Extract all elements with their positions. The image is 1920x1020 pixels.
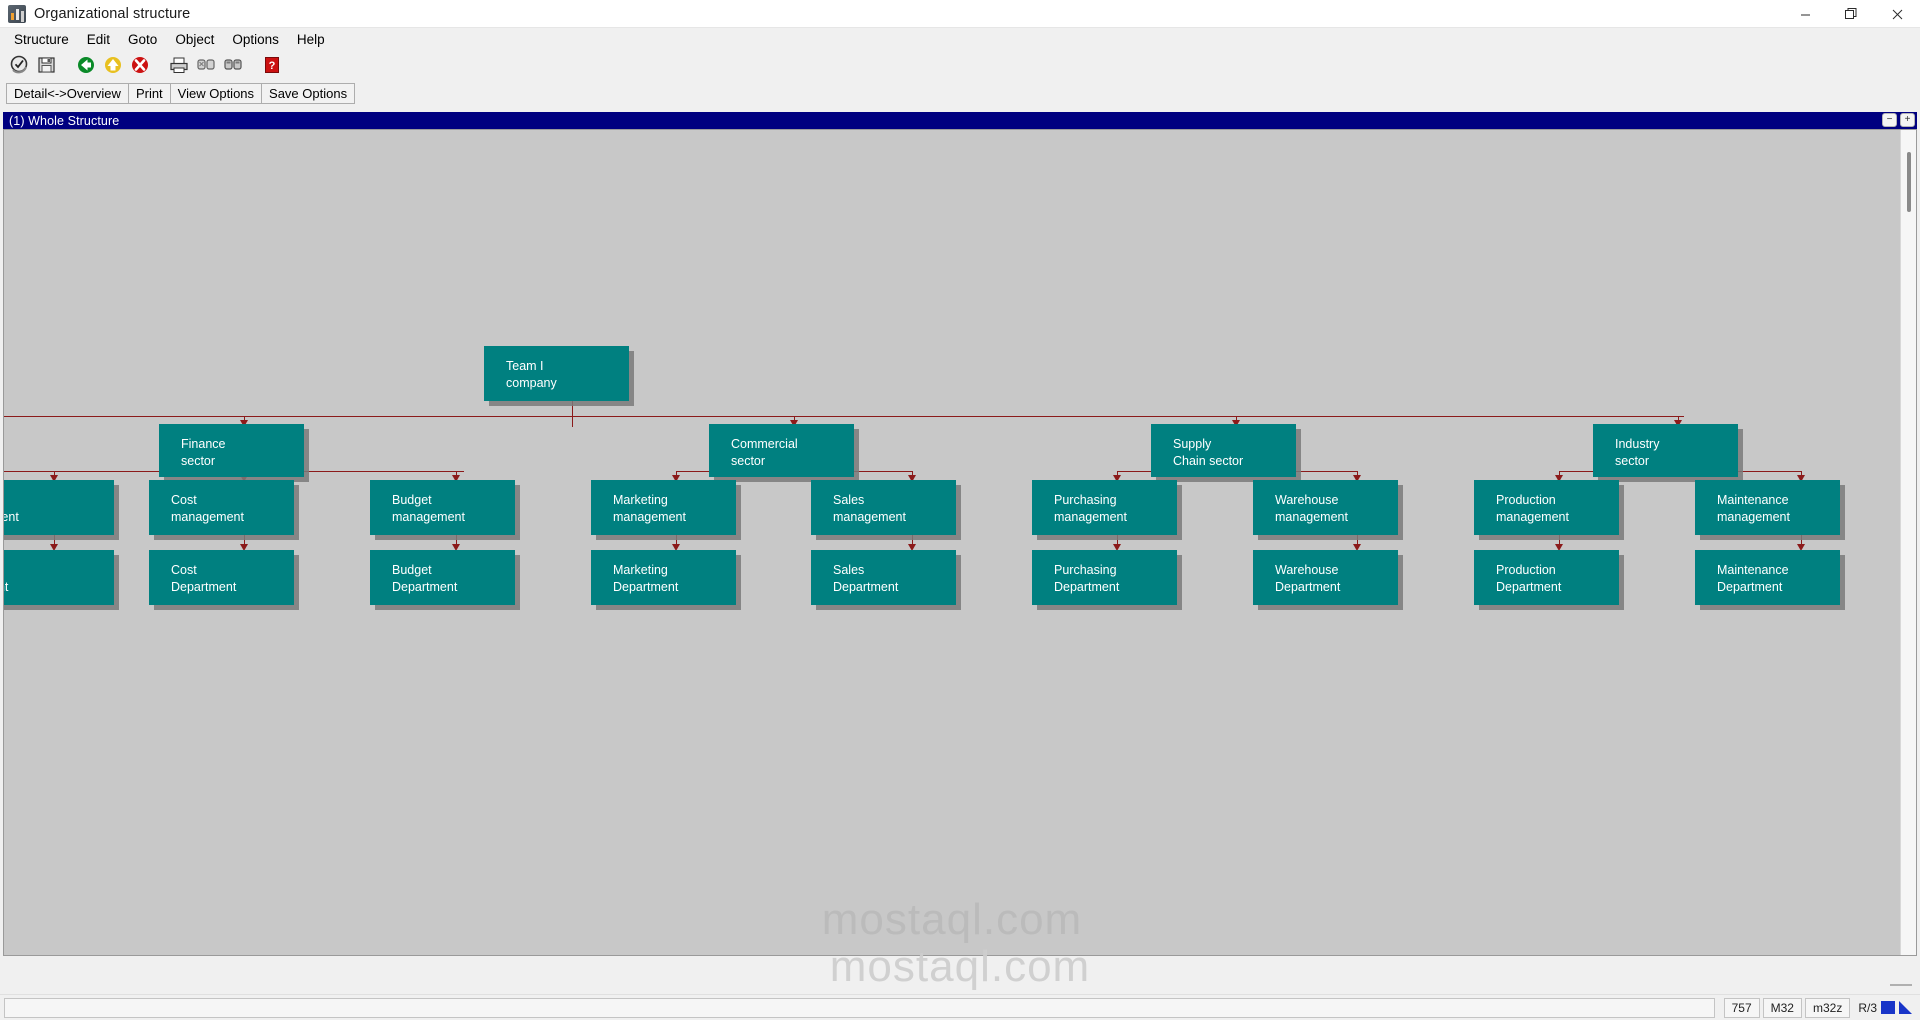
org-node-warehouse-department[interactable]: Warehouse Department [1253, 550, 1398, 605]
print-icon[interactable] [167, 54, 191, 77]
mdi-title-text: (1) Whole Structure [9, 114, 119, 128]
save-options-button[interactable]: Save Options [261, 83, 355, 104]
vertical-scrollbar-thumb[interactable] [1907, 152, 1911, 212]
org-node-purchasing-department[interactable]: Purchasing Department [1032, 550, 1177, 605]
org-node-budget-department[interactable]: Budget Department [370, 550, 515, 605]
node-line1: Maintenance [1717, 563, 1789, 577]
print-button[interactable]: Print [128, 83, 171, 104]
node-line2: Department [392, 579, 515, 596]
org-node-root[interactable]: Team I company [484, 346, 629, 401]
org-node-commercial-sector[interactable]: Commercial sector [709, 424, 854, 477]
sap-logo-square-icon [1881, 1001, 1895, 1014]
connector-bus-level2 [4, 416, 1684, 417]
restore-icon[interactable] [1828, 0, 1874, 28]
node-line2: management [1496, 509, 1619, 526]
close-icon[interactable] [1874, 0, 1920, 28]
org-node-maintenance-management[interactable]: Maintenance management [1695, 480, 1840, 535]
menu-object[interactable]: Object [166, 30, 223, 49]
node-line2: Department [1496, 579, 1619, 596]
exit-yellow-arrow-icon[interactable] [101, 54, 125, 77]
node-line2: management [613, 509, 736, 526]
mdi-body: Team I company Finance sector Commercial… [3, 129, 1917, 956]
org-node-production-management[interactable]: Production management [1474, 480, 1619, 535]
node-line2: Department [171, 579, 294, 596]
mdi-window: (1) Whole Structure − + [0, 110, 1920, 958]
node-line1: Cost [171, 563, 197, 577]
node-line2: Department [1054, 579, 1177, 596]
mdi-window-controls: − + [1882, 113, 1915, 127]
org-node-sales-department[interactable]: Sales Department [811, 550, 956, 605]
menu-structure[interactable]: Structure [5, 30, 78, 49]
node-line1: Marketing [613, 493, 668, 507]
node-line2: management [1275, 509, 1398, 526]
org-node-warehouse-management[interactable]: Warehouse management [1253, 480, 1398, 535]
menubar: Structure Edit Goto Object Options Help [0, 28, 1920, 50]
node-line1: Purchasing [1054, 493, 1117, 507]
cancel-red-x-icon[interactable] [128, 54, 152, 77]
node-line1: Supply [1173, 437, 1211, 451]
chart-app-icon [8, 5, 26, 23]
node-line1: Budget [392, 493, 432, 507]
menu-help[interactable]: Help [288, 30, 334, 49]
status-system-label: R/3 [1858, 1001, 1877, 1015]
node-line1: Marketing [613, 563, 668, 577]
org-node-finance-sector[interactable]: Finance sector [159, 424, 304, 477]
node-line2: ment [4, 509, 114, 526]
menu-edit[interactable]: Edit [78, 30, 119, 49]
view-options-button[interactable]: View Options [170, 83, 262, 104]
org-node-production-department[interactable]: Production Department [1474, 550, 1619, 605]
node-line1: Production [1496, 563, 1556, 577]
node-line2: sector [1615, 453, 1738, 470]
statusbar: 757 M32 m32z R/3 [0, 994, 1920, 1020]
org-node-maintenance-department[interactable]: Maintenance Department [1695, 550, 1840, 605]
application-toolbar: Detail<->Overview Print View Options Sav… [0, 80, 1920, 106]
node-line2: management [1717, 509, 1840, 526]
node-line1: Production [1496, 493, 1556, 507]
node-line1: Sales [833, 563, 864, 577]
save-disk-icon[interactable] [35, 54, 59, 77]
node-line2: Department [833, 579, 956, 596]
node-line2: management [392, 509, 515, 526]
window-title: Organizational structure [34, 6, 190, 22]
org-node-sales-management[interactable]: Sales management [811, 480, 956, 535]
status-system-indicator[interactable]: R/3 [1858, 1001, 1912, 1015]
window-titlebar: Organizational structure [0, 0, 1920, 28]
svg-text:?: ? [269, 60, 276, 72]
icon-toolbar: ? [0, 50, 1920, 80]
detail-overview-button[interactable]: Detail<->Overview [6, 83, 129, 104]
watermark-inner: mostaql.com [4, 895, 1900, 945]
node-line2: company [506, 375, 629, 392]
org-node-industry-sector[interactable]: Industry sector [1593, 424, 1738, 477]
node-line1: Industry [1615, 437, 1659, 451]
mdi-maximize-button[interactable]: + [1900, 113, 1915, 127]
enter-check-icon[interactable] [8, 54, 32, 77]
node-line2: Department [1717, 579, 1840, 596]
org-node-clipped-management[interactable]: ment [4, 480, 114, 535]
back-green-arrow-icon[interactable] [74, 54, 98, 77]
node-line2: management [171, 509, 294, 526]
node-line1: Budget [392, 563, 432, 577]
org-node-purchasing-management[interactable]: Purchasing management [1032, 480, 1177, 535]
status-message [4, 998, 1715, 1018]
org-node-marketing-management[interactable]: Marketing management [591, 480, 736, 535]
org-node-supply-chain-sector[interactable]: Supply Chain sector [1151, 424, 1296, 477]
node-line1: Warehouse [1275, 493, 1338, 507]
node-line2: Chain sector [1173, 453, 1296, 470]
find-icon[interactable] [194, 54, 218, 77]
window-controls [1782, 0, 1920, 28]
node-line2: sector [731, 453, 854, 470]
help-red-book-icon[interactable]: ? [260, 54, 284, 77]
org-node-cost-department[interactable]: Cost Department [149, 550, 294, 605]
sap-logo-triangle-icon [1899, 1001, 1912, 1014]
node-line1: Finance [181, 437, 225, 451]
org-node-marketing-department[interactable]: Marketing Department [591, 550, 736, 605]
org-node-clipped-department[interactable]: ent [4, 550, 114, 605]
find-next-binoculars-icon[interactable] [221, 54, 245, 77]
vertical-scrollbar[interactable] [1900, 130, 1916, 955]
node-line1: Warehouse [1275, 563, 1338, 577]
status-system-id[interactable]: M32 [1763, 998, 1802, 1018]
resize-grip[interactable] [1890, 984, 1916, 990]
menu-options[interactable]: Options [223, 30, 288, 49]
org-node-cost-management[interactable]: Cost management [149, 480, 294, 535]
status-transaction-number[interactable]: 757 [1724, 998, 1760, 1018]
node-line2: management [833, 509, 956, 526]
org-node-budget-management[interactable]: Budget management [370, 480, 515, 535]
mdi-minimize-button[interactable]: − [1882, 113, 1897, 127]
status-server-name[interactable]: m32z [1805, 998, 1850, 1018]
mdi-titlebar: (1) Whole Structure − + [3, 112, 1917, 129]
node-line2: ent [4, 579, 114, 596]
node-line2: management [1054, 509, 1177, 526]
menu-goto[interactable]: Goto [119, 30, 166, 49]
node-line2: Department [1275, 579, 1398, 596]
connector [572, 401, 573, 427]
node-line1: Purchasing [1054, 563, 1117, 577]
node-line2: sector [181, 453, 304, 470]
node-line1: Cost [171, 493, 197, 507]
node-line1: Team I [506, 359, 544, 373]
node-line1: Sales [833, 493, 864, 507]
node-line1: Maintenance [1717, 493, 1789, 507]
minimize-button[interactable] [1782, 0, 1828, 28]
node-line1: Commercial [731, 437, 798, 451]
org-chart-canvas[interactable]: Team I company Finance sector Commercial… [4, 130, 1900, 955]
node-line2: Department [613, 579, 736, 596]
